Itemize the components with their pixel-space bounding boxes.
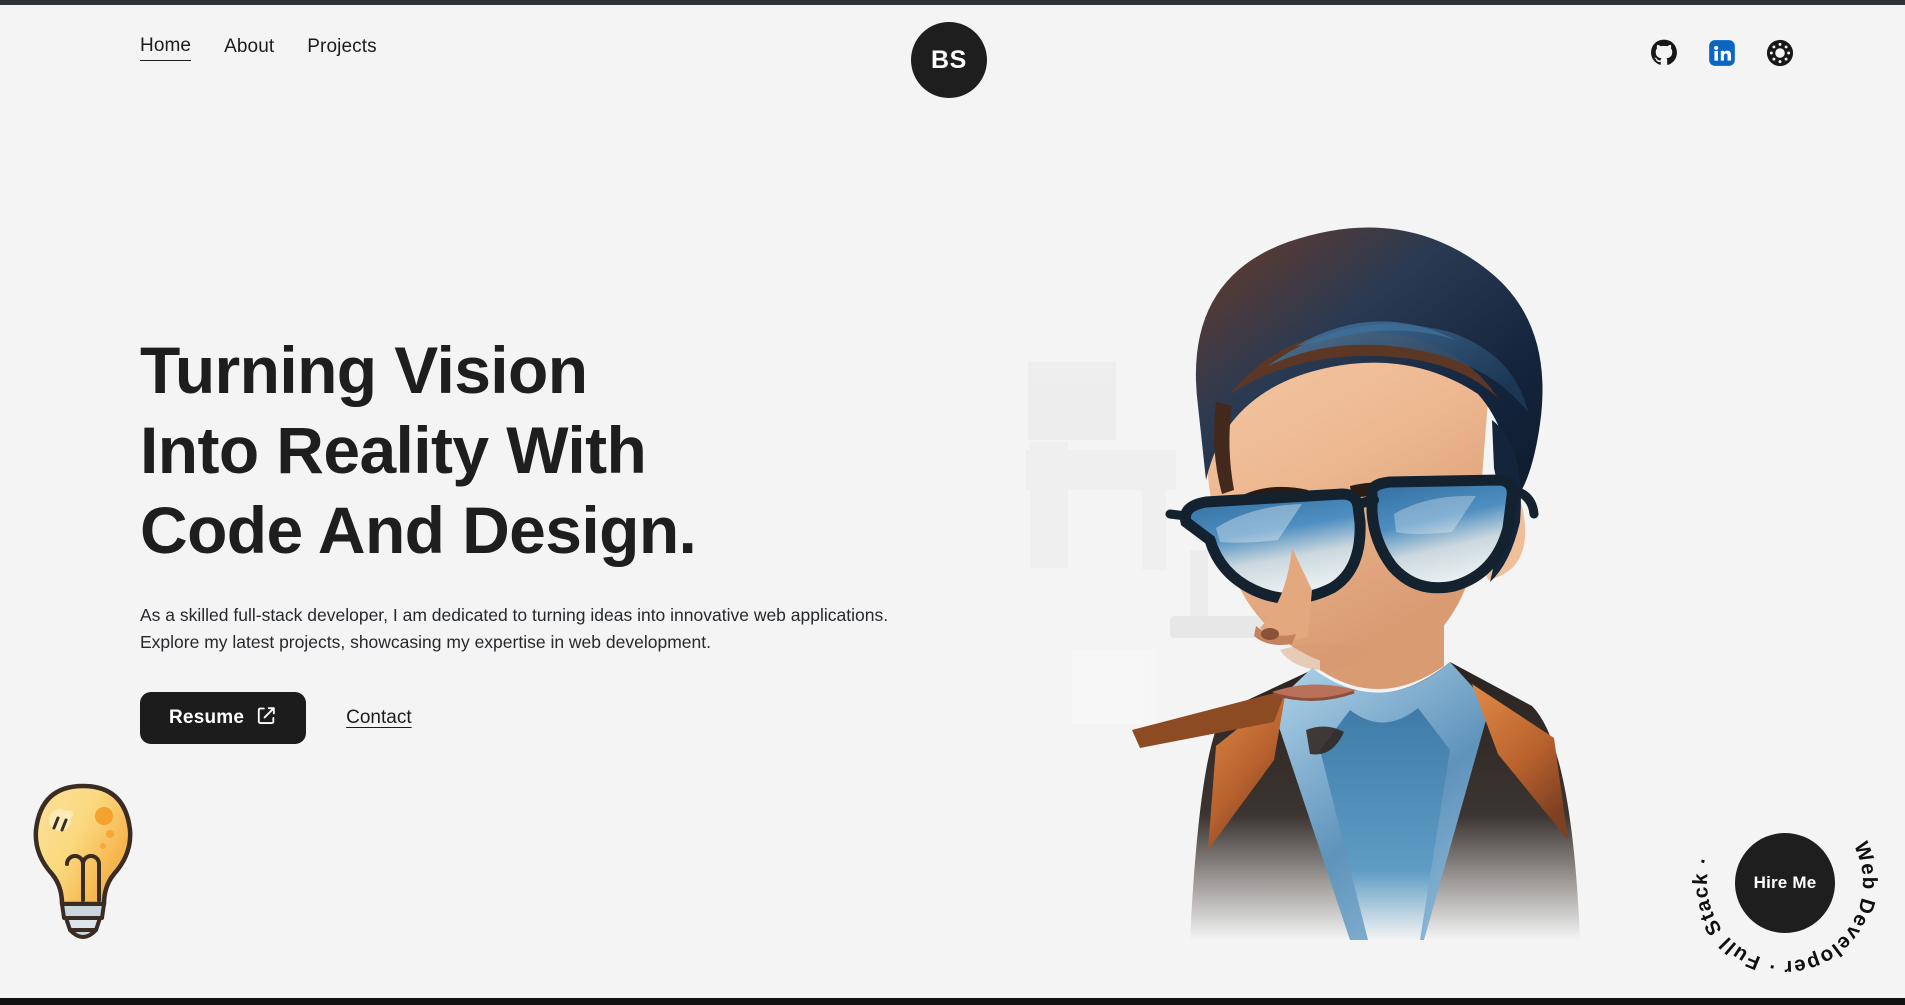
hero-cta-row: Resume Contact xyxy=(140,692,960,744)
headline-line-1: Turning Vision xyxy=(140,330,960,410)
primary-nav: Home About Projects xyxy=(140,35,377,61)
hire-me-label: Hire Me xyxy=(1754,873,1817,893)
nav-item-about[interactable]: About xyxy=(224,36,274,61)
hero-subtitle: As a skilled full-stack developer, I am … xyxy=(140,602,922,656)
social-links xyxy=(1649,38,1795,68)
headline-line-2: Into Reality With xyxy=(140,410,960,490)
lightbulb-icon xyxy=(22,778,144,948)
hire-me-button[interactable]: Hire Me xyxy=(1735,833,1835,933)
hero-page: Home About Projects BS xyxy=(0,0,1905,1005)
logo-badge[interactable]: BS xyxy=(911,22,987,98)
next-section-strip xyxy=(0,998,1905,1005)
external-link-icon xyxy=(256,705,277,732)
theme-toggle-icon[interactable] xyxy=(1765,38,1795,68)
logo-initials: BS xyxy=(931,46,967,75)
hero-portrait xyxy=(1020,150,1680,940)
nav-item-projects[interactable]: Projects xyxy=(307,36,376,61)
page-title: Turning Vision Into Reality With Code An… xyxy=(140,330,960,570)
nav-item-home[interactable]: Home xyxy=(140,35,191,61)
hire-me-badge[interactable]: Web Developer · Full Stack · Hire Me xyxy=(1687,785,1883,981)
resume-button-label: Resume xyxy=(169,707,244,729)
github-icon[interactable] xyxy=(1649,38,1679,68)
headline-line-3: Code And Design. xyxy=(140,490,960,570)
hero-copy: Turning Vision Into Reality With Code An… xyxy=(140,330,960,744)
resume-button[interactable]: Resume xyxy=(140,692,306,744)
linkedin-icon[interactable] xyxy=(1707,38,1737,68)
site-header: Home About Projects BS xyxy=(0,5,1905,97)
contact-link[interactable]: Contact xyxy=(346,707,411,729)
